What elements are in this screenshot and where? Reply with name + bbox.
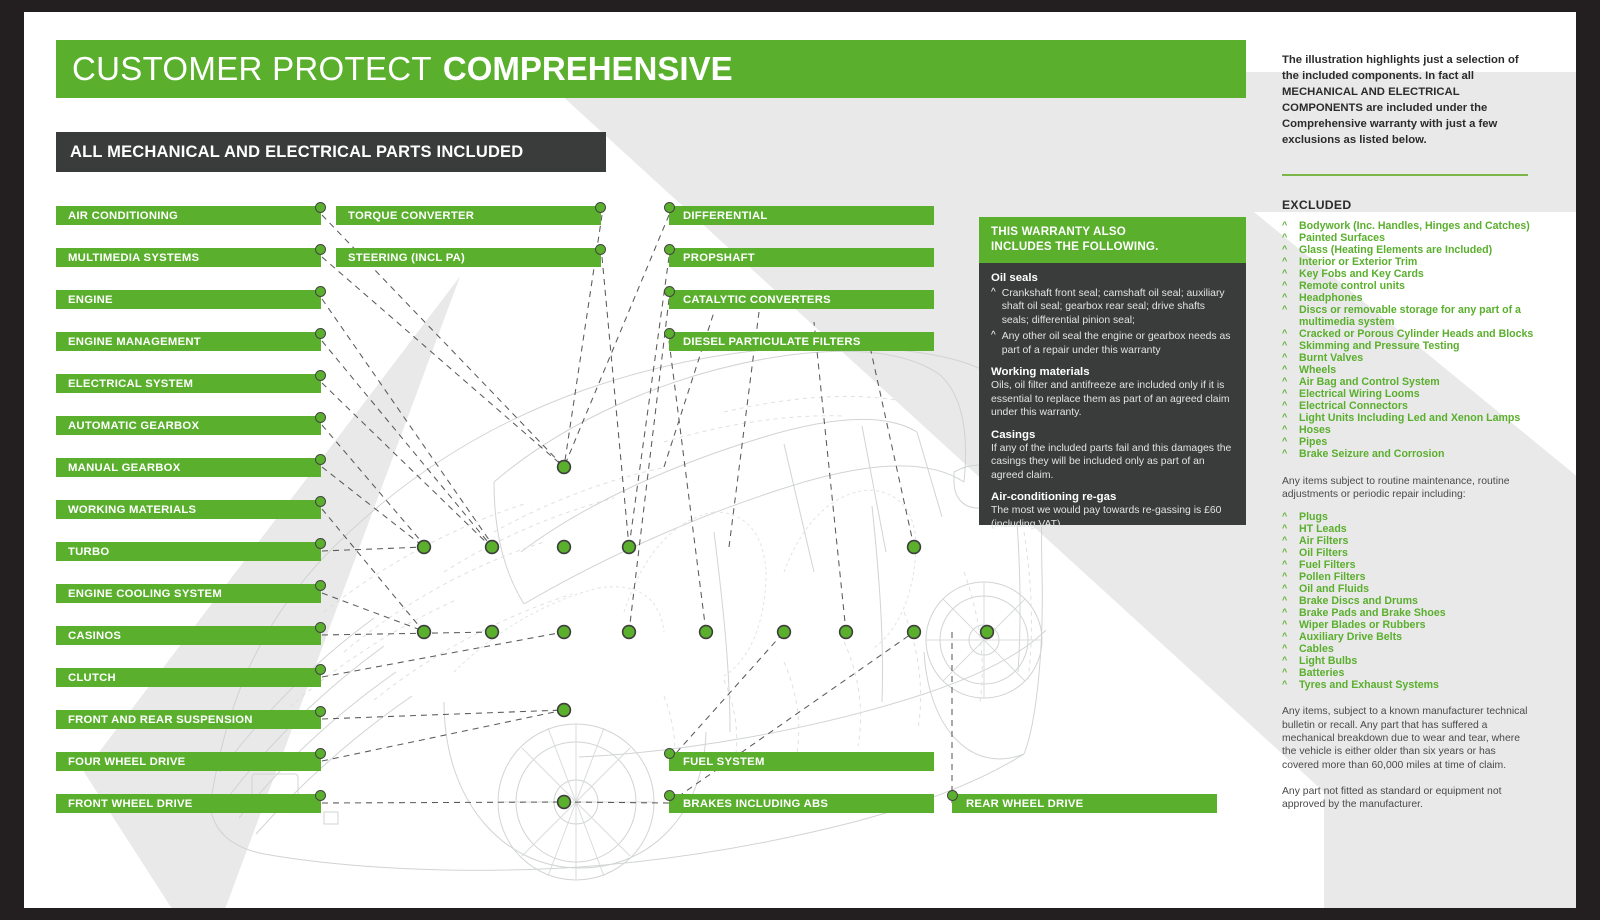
excluded-label: Brake Seizure and Corrosion: [1299, 448, 1444, 460]
chevron-up-icon: ^: [1282, 448, 1292, 459]
warranty-head-line2: INCLUDES THE FOLLOWING.: [991, 239, 1234, 254]
chevron-up-icon: ^: [1282, 268, 1292, 279]
hotspot-dot-icon: [315, 202, 326, 213]
part-label: FRONT AND REAR SUSPENSION: [68, 714, 253, 726]
part-bar-right-3[interactable]: DIESEL PARTICULATE FILTERS: [669, 332, 934, 351]
part-label: MANUAL GEARBOX: [68, 462, 181, 474]
chevron-up-icon: ^: [1282, 328, 1292, 339]
hotspot-dot-icon: [315, 328, 326, 339]
excluded-label: Burnt Valves: [1299, 352, 1363, 364]
warranty-section-text-1: Oils, oil filter and antifreeze are incl…: [991, 379, 1232, 420]
part-bar-right-5[interactable]: BRAKES INCLUDING ABS: [669, 794, 934, 813]
routine-label: Oil Filters: [1299, 547, 1348, 559]
part-bar-left-6[interactable]: MANUAL GEARBOX: [56, 458, 321, 477]
excluded-label: Bodywork (Inc. Handles, Hinges and Catch…: [1299, 220, 1530, 232]
warranty-section-title-3: Air-conditioning re-gas: [991, 491, 1232, 503]
routine-label: Batteries: [1299, 667, 1344, 679]
warranty-head-line1: THIS WARRANTY ALSO: [991, 224, 1234, 239]
excluded-item: ^Electrical Connectors: [1282, 400, 1552, 412]
chevron-up-icon: ^: [1282, 352, 1292, 363]
chevron-up-icon: ^: [1282, 364, 1292, 375]
part-label: ELECTRICAL SYSTEM: [68, 378, 193, 390]
routine-item: ^Oil and Fluids: [1282, 583, 1552, 595]
excluded-label: Headphones: [1299, 292, 1363, 304]
hotspot-dot-icon: [315, 664, 326, 675]
routine-item: ^Fuel Filters: [1282, 559, 1552, 571]
chevron-up-icon: ^: [1282, 631, 1292, 642]
title-part2: COMPREHENSIVE: [443, 50, 733, 88]
routine-label: HT Leads: [1299, 523, 1347, 535]
excluded-label: Painted Surfaces: [1299, 232, 1385, 244]
chevron-up-icon: ^: [1282, 643, 1292, 654]
routine-item: ^Wiper Blades or Rubbers: [1282, 619, 1552, 631]
part-bar-left-1[interactable]: MULTIMEDIA SYSTEMS: [56, 248, 321, 267]
excluded-item: ^Cracked or Porous Cylinder Heads and Bl…: [1282, 328, 1552, 340]
routine-note: Any items subject to routine maintenance…: [1282, 475, 1534, 502]
part-bar-left-7[interactable]: WORKING MATERIALS: [56, 500, 321, 519]
part-bar-left-5[interactable]: AUTOMATIC GEARBOX: [56, 416, 321, 435]
right-column: The illustration highlights just a selec…: [1282, 52, 1552, 812]
hotspot-dot-icon: [315, 748, 326, 759]
part-label: FOUR WHEEL DRIVE: [68, 756, 185, 768]
part-bar-mid-1[interactable]: STEERING (INCL PA): [336, 248, 601, 267]
part-bar-mid-0[interactable]: TORQUE CONVERTER: [336, 206, 601, 225]
chevron-up-icon: ^: [1282, 424, 1292, 435]
intro-text: The illustration highlights just a selec…: [1282, 52, 1530, 148]
routine-label: Air Filters: [1299, 535, 1348, 547]
chevron-up-icon: ^: [1282, 535, 1292, 546]
excluded-label: Pipes: [1299, 436, 1327, 448]
warranty-bullet-text: Crankshaft front seal; camshaft oil seal…: [1002, 287, 1232, 328]
part-bar-right-0[interactable]: DIFFERENTIAL: [669, 206, 934, 225]
part-bar-left-9[interactable]: ENGINE COOLING SYSTEM: [56, 584, 321, 603]
chevron-up-icon: ^: [1282, 376, 1292, 387]
hotspot-dot-icon: [664, 748, 675, 759]
hotspot-dot-icon: [595, 244, 606, 255]
chevron-up-icon: ^: [1282, 667, 1292, 678]
routine-label: Cables: [1299, 643, 1334, 655]
part-bar-left-0[interactable]: AIR CONDITIONING: [56, 206, 321, 225]
chevron-up-icon: ^: [1282, 400, 1292, 411]
part-bar-left-14[interactable]: FRONT WHEEL DRIVE: [56, 794, 321, 813]
chevron-up-icon: ^: [1282, 523, 1292, 534]
routine-label: Tyres and Exhaust Systems: [1299, 679, 1439, 691]
routine-label: Oil and Fluids: [1299, 583, 1369, 595]
chevron-up-icon: ^: [1282, 304, 1292, 315]
chevron-up-icon: ^: [991, 330, 996, 357]
chevron-up-icon: ^: [1282, 571, 1292, 582]
routine-item: ^Plugs: [1282, 511, 1552, 523]
routine-label: Light Bulbs: [1299, 655, 1357, 667]
excluded-label: Electrical Wiring Looms: [1299, 388, 1420, 400]
part-bar-left-13[interactable]: FOUR WHEEL DRIVE: [56, 752, 321, 771]
part-bar-right-1[interactable]: PROPSHAFT: [669, 248, 934, 267]
bulletin-note: Any items, subject to a known manufactur…: [1282, 705, 1534, 772]
part-bar-right-4[interactable]: FUEL SYSTEM: [669, 752, 934, 771]
chevron-up-icon: ^: [1282, 220, 1292, 231]
part-label: BRAKES INCLUDING ABS: [683, 798, 828, 810]
page-title: CUSTOMER PROTECT COMPREHENSIVE: [56, 40, 1246, 98]
routine-label: Auxiliary Drive Belts: [1299, 631, 1402, 643]
warranty-section-title-0: Oil seals: [991, 272, 1232, 284]
excluded-label: Key Fobs and Key Cards: [1299, 268, 1424, 280]
hotspot-dot-icon: [315, 286, 326, 297]
excluded-label: Light Units Including Led and Xenon Lamp…: [1299, 412, 1520, 424]
hotspot-dot-icon: [315, 538, 326, 549]
part-bar-left-2[interactable]: ENGINE: [56, 290, 321, 309]
chevron-up-icon: ^: [1282, 583, 1292, 594]
subtitle-text: ALL MECHANICAL AND ELECTRICAL PARTS INCL…: [70, 143, 523, 162]
part-label: DIESEL PARTICULATE FILTERS: [683, 336, 861, 348]
hotspot-dot-icon: [315, 580, 326, 591]
title-part1: CUSTOMER PROTECT: [72, 50, 432, 88]
part-label: ENGINE MANAGEMENT: [68, 336, 201, 348]
excluded-item: ^Discs or removable storage for any part…: [1282, 304, 1552, 328]
subtitle-banner: ALL MECHANICAL AND ELECTRICAL PARTS INCL…: [56, 132, 606, 172]
hotspot-dot-icon: [664, 790, 675, 801]
routine-item: ^Light Bulbs: [1282, 655, 1552, 667]
routine-label: Fuel Filters: [1299, 559, 1356, 571]
excluded-item: ^Air Bag and Control System: [1282, 376, 1552, 388]
hotspot-dot-icon: [664, 244, 675, 255]
chevron-up-icon: ^: [1282, 595, 1292, 606]
part-bar-far-0[interactable]: REAR WHEEL DRIVE: [952, 794, 1217, 813]
warranty-section-title-1: Working materials: [991, 366, 1232, 378]
part-label: ENGINE COOLING SYSTEM: [68, 588, 222, 600]
part-bar-right-2[interactable]: CATALYTIC CONVERTERS: [669, 290, 934, 309]
hotspot-dot-icon: [315, 454, 326, 465]
part-bar-left-3[interactable]: ENGINE MANAGEMENT: [56, 332, 321, 351]
part-bar-left-12[interactable]: FRONT AND REAR SUSPENSION: [56, 710, 321, 729]
chevron-up-icon: ^: [1282, 607, 1292, 618]
routine-item: ^Brake Discs and Drums: [1282, 595, 1552, 607]
part-label: TORQUE CONVERTER: [348, 210, 474, 222]
routine-label: Plugs: [1299, 511, 1328, 523]
part-label: CATALYTIC CONVERTERS: [683, 294, 831, 306]
excluded-item: ^Brake Seizure and Corrosion: [1282, 448, 1552, 460]
chevron-up-icon: ^: [1282, 655, 1292, 666]
part-label: AUTOMATIC GEARBOX: [68, 420, 199, 432]
excluded-label: Glass (Heating Elements are Included): [1299, 244, 1492, 256]
chevron-up-icon: ^: [1282, 559, 1292, 570]
excluded-item: ^Hoses: [1282, 424, 1552, 436]
part-label: FRONT WHEEL DRIVE: [68, 798, 193, 810]
routine-item: ^Batteries: [1282, 667, 1552, 679]
warranty-panel: THIS WARRANTY ALSO INCLUDES THE FOLLOWIN…: [979, 217, 1246, 525]
hotspot-dot-icon: [664, 286, 675, 297]
excluded-item: ^Light Units Including Led and Xenon Lam…: [1282, 412, 1552, 424]
warranty-bullet-0-0: ^Crankshaft front seal; camshaft oil sea…: [991, 287, 1232, 328]
part-bar-left-10[interactable]: CASINOS: [56, 626, 321, 645]
hotspot-dot-icon: [315, 706, 326, 717]
excluded-item: ^Painted Surfaces: [1282, 232, 1552, 244]
part-bar-left-11[interactable]: CLUTCH: [56, 668, 321, 687]
chevron-up-icon: ^: [1282, 256, 1292, 267]
excluded-list: ^Bodywork (Inc. Handles, Hinges and Catc…: [1282, 220, 1552, 460]
excluded-item: ^Pipes: [1282, 436, 1552, 448]
part-label: FUEL SYSTEM: [683, 756, 765, 768]
part-bar-left-4[interactable]: ELECTRICAL SYSTEM: [56, 374, 321, 393]
part-label: CASINOS: [68, 630, 121, 642]
standard-note: Any part not fitted as standard or equip…: [1282, 785, 1534, 812]
excluded-item: ^Skimming and Pressure Testing: [1282, 340, 1552, 352]
hotspot-dot-icon: [664, 202, 675, 213]
part-label: ENGINE: [68, 294, 113, 306]
warranty-panel-header: THIS WARRANTY ALSO INCLUDES THE FOLLOWIN…: [979, 217, 1246, 263]
part-label: MULTIMEDIA SYSTEMS: [68, 252, 199, 264]
routine-item: ^Auxiliary Drive Belts: [1282, 631, 1552, 643]
warranty-bullet-text: Any other oil seal the engine or gearbox…: [1002, 330, 1232, 357]
routine-item: ^Oil Filters: [1282, 547, 1552, 559]
hotspot-dot-icon: [664, 328, 675, 339]
poster-sheet: CUSTOMER PROTECT COMPREHENSIVE ALL MECHA…: [24, 12, 1576, 908]
routine-label: Brake Pads and Brake Shoes: [1299, 607, 1446, 619]
warranty-section-text-3: The most we would pay towards re-gassing…: [991, 504, 1232, 531]
excluded-item: ^Interior or Exterior Trim: [1282, 256, 1552, 268]
excluded-label: Interior or Exterior Trim: [1299, 256, 1417, 268]
routine-item: ^Tyres and Exhaust Systems: [1282, 679, 1552, 691]
chevron-up-icon: ^: [1282, 547, 1292, 558]
warranty-panel-body: Oil seals^Crankshaft front seal; camshaf…: [979, 263, 1246, 540]
hotspot-dot-icon: [315, 370, 326, 381]
chevron-up-icon: ^: [1282, 679, 1292, 690]
excluded-item: ^Wheels: [1282, 364, 1552, 376]
excluded-item: ^Bodywork (Inc. Handles, Hinges and Catc…: [1282, 220, 1552, 232]
warranty-section-text-2: If any of the included parts fail and th…: [991, 442, 1232, 483]
excluded-label: Electrical Connectors: [1299, 400, 1408, 412]
excluded-item: ^Headphones: [1282, 292, 1552, 304]
part-label: WORKING MATERIALS: [68, 504, 196, 516]
part-label: CLUTCH: [68, 672, 116, 684]
part-label: TURBO: [68, 546, 109, 558]
hotspot-dot-icon: [315, 244, 326, 255]
excluded-label: Skimming and Pressure Testing: [1299, 340, 1460, 352]
excluded-item: ^Remote control units: [1282, 280, 1552, 292]
chevron-up-icon: ^: [1282, 388, 1292, 399]
chevron-up-icon: ^: [1282, 511, 1292, 522]
chevron-up-icon: ^: [1282, 619, 1292, 630]
part-label: DIFFERENTIAL: [683, 210, 768, 222]
part-label: REAR WHEEL DRIVE: [966, 798, 1083, 810]
part-bar-left-8[interactable]: TURBO: [56, 542, 321, 561]
routine-label: Pollen Filters: [1299, 571, 1366, 583]
chevron-up-icon: ^: [1282, 436, 1292, 447]
routine-item: ^Pollen Filters: [1282, 571, 1552, 583]
excluded-item: ^Glass (Heating Elements are Included): [1282, 244, 1552, 256]
part-label: PROPSHAFT: [683, 252, 755, 264]
excluded-label: Hoses: [1299, 424, 1331, 436]
chevron-up-icon: ^: [1282, 412, 1292, 423]
hotspot-dot-icon: [947, 790, 958, 801]
warranty-section-title-2: Casings: [991, 429, 1232, 441]
excluded-label: Remote control units: [1299, 280, 1405, 292]
excluded-heading: EXCLUDED: [1282, 198, 1552, 212]
chevron-up-icon: ^: [1282, 340, 1292, 351]
chevron-up-icon: ^: [1282, 280, 1292, 291]
part-label: STEERING (INCL PA): [348, 252, 465, 264]
excluded-item: ^Burnt Valves: [1282, 352, 1552, 364]
excluded-label: Cracked or Porous Cylinder Heads and Blo…: [1299, 328, 1533, 340]
chevron-up-icon: ^: [991, 287, 996, 328]
poster-page: CUSTOMER PROTECT COMPREHENSIVE ALL MECHA…: [0, 0, 1600, 920]
part-label: AIR CONDITIONING: [68, 210, 178, 222]
hotspot-dot-icon: [315, 412, 326, 423]
routine-item: ^Air Filters: [1282, 535, 1552, 547]
warranty-bullet-0-1: ^Any other oil seal the engine or gearbo…: [991, 330, 1232, 357]
hotspot-dot-icon: [315, 790, 326, 801]
hotspot-dot-icon: [315, 622, 326, 633]
routine-item: ^Cables: [1282, 643, 1552, 655]
excluded-label: Discs or removable storage for any part …: [1299, 304, 1552, 328]
routine-item: ^HT Leads: [1282, 523, 1552, 535]
excluded-item: ^Electrical Wiring Looms: [1282, 388, 1552, 400]
divider-rule: [1282, 174, 1528, 176]
chevron-up-icon: ^: [1282, 292, 1292, 303]
excluded-label: Wheels: [1299, 364, 1336, 376]
chevron-up-icon: ^: [1282, 244, 1292, 255]
hotspot-dot-icon: [595, 202, 606, 213]
excluded-item: ^Key Fobs and Key Cards: [1282, 268, 1552, 280]
routine-label: Brake Discs and Drums: [1299, 595, 1418, 607]
routine-label: Wiper Blades or Rubbers: [1299, 619, 1425, 631]
excluded-label: Air Bag and Control System: [1299, 376, 1440, 388]
chevron-up-icon: ^: [1282, 232, 1292, 243]
routine-item: ^Brake Pads and Brake Shoes: [1282, 607, 1552, 619]
routine-list: ^Plugs^HT Leads^Air Filters^Oil Filters^…: [1282, 511, 1552, 691]
hotspot-dot-icon: [315, 496, 326, 507]
